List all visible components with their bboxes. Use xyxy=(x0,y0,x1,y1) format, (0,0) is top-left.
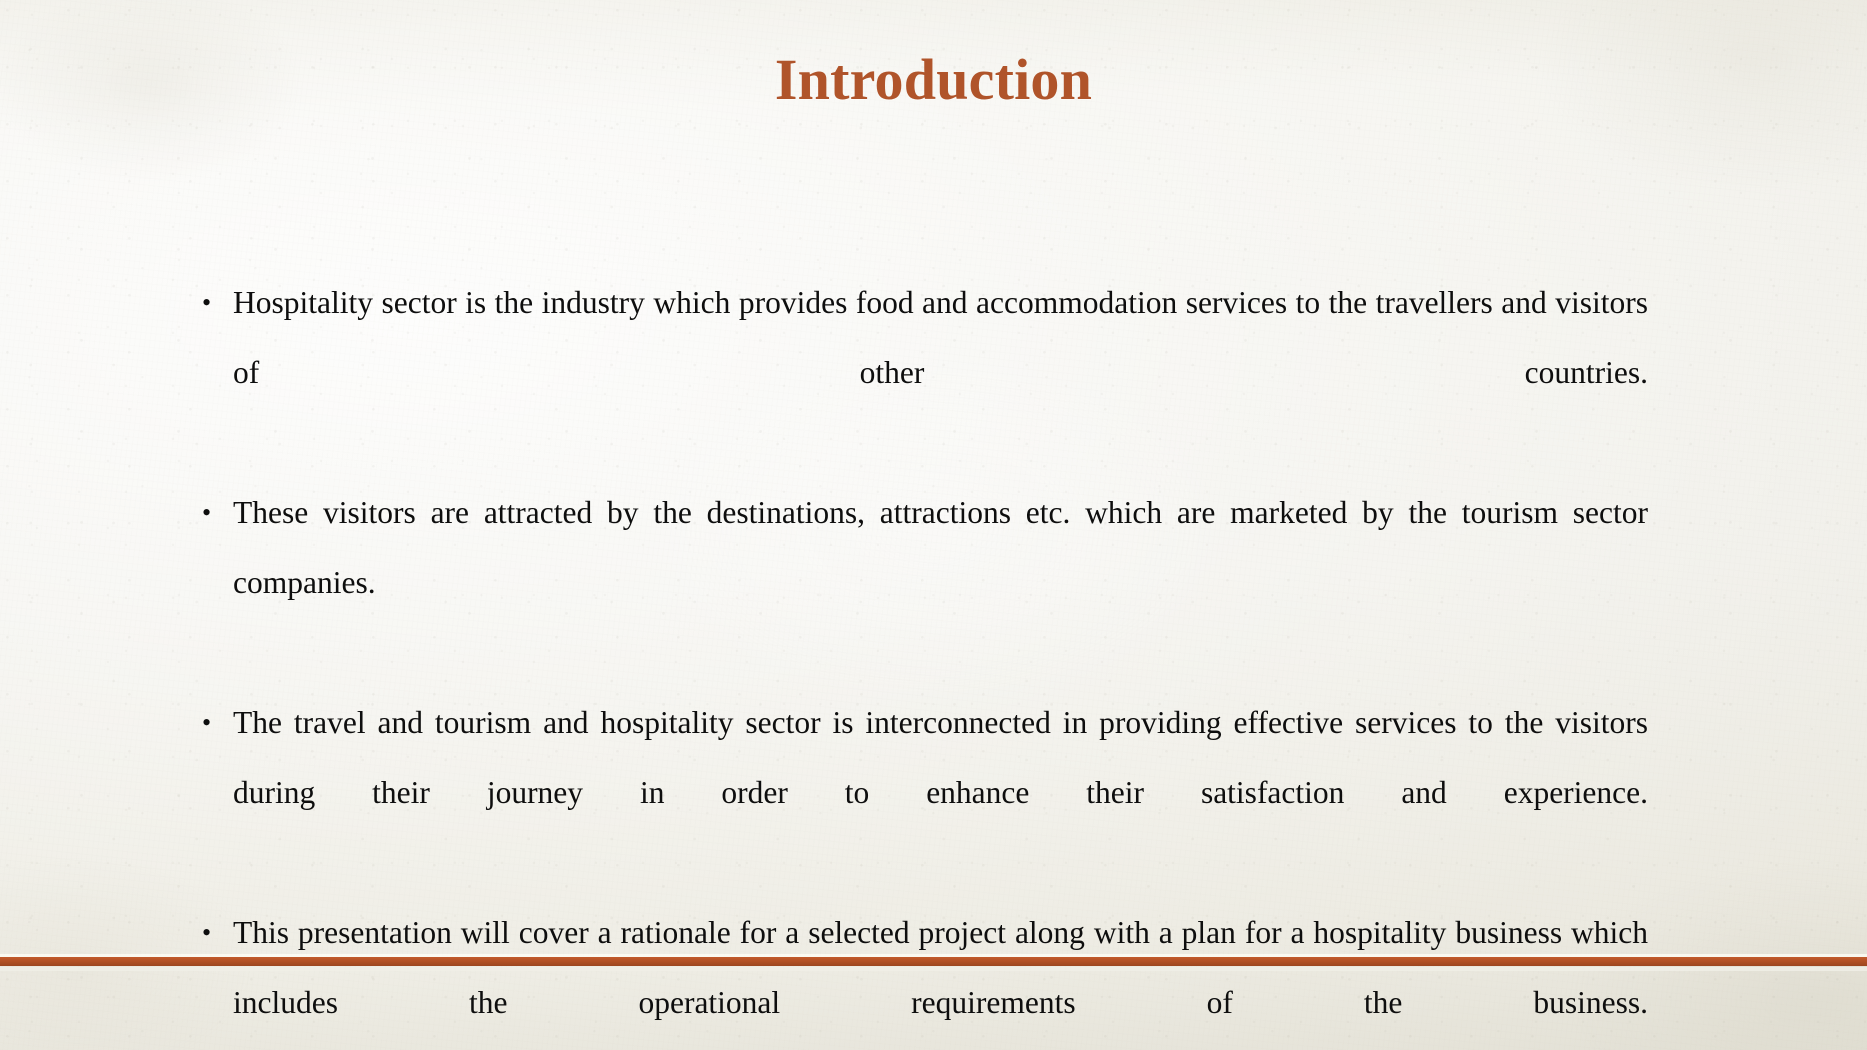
bullet-marker-icon: • xyxy=(202,478,222,548)
bullet-text: This presentation will cover a rationale… xyxy=(233,898,1648,1050)
bullet-item: • Hospitality sector is the industry whi… xyxy=(196,268,1648,478)
bullet-list: • Hospitality sector is the industry whi… xyxy=(196,268,1648,1050)
bullet-marker-icon: • xyxy=(202,688,222,758)
bullet-item: • The travel and tourism and hospitality… xyxy=(196,688,1648,898)
bullet-text: The travel and tourism and hospitality s… xyxy=(233,688,1648,898)
accent-rule-shadow xyxy=(0,967,1867,971)
bullet-text: These visitors are attracted by the dest… xyxy=(233,478,1648,688)
slide-title-area: Introduction xyxy=(0,48,1867,113)
slide-body-area: • Hospitality sector is the industry whi… xyxy=(196,268,1648,1050)
bullet-item: • These visitors are attracted by the de… xyxy=(196,478,1648,688)
bullet-item: • This presentation will cover a rationa… xyxy=(196,898,1648,1050)
presentation-slide: Introduction • Hospitality sector is the… xyxy=(0,0,1867,1050)
bullet-text: Hospitality sector is the industry which… xyxy=(233,268,1648,478)
accent-rule xyxy=(0,957,1867,966)
bullet-marker-icon: • xyxy=(202,268,222,338)
slide-title: Introduction xyxy=(0,48,1867,113)
